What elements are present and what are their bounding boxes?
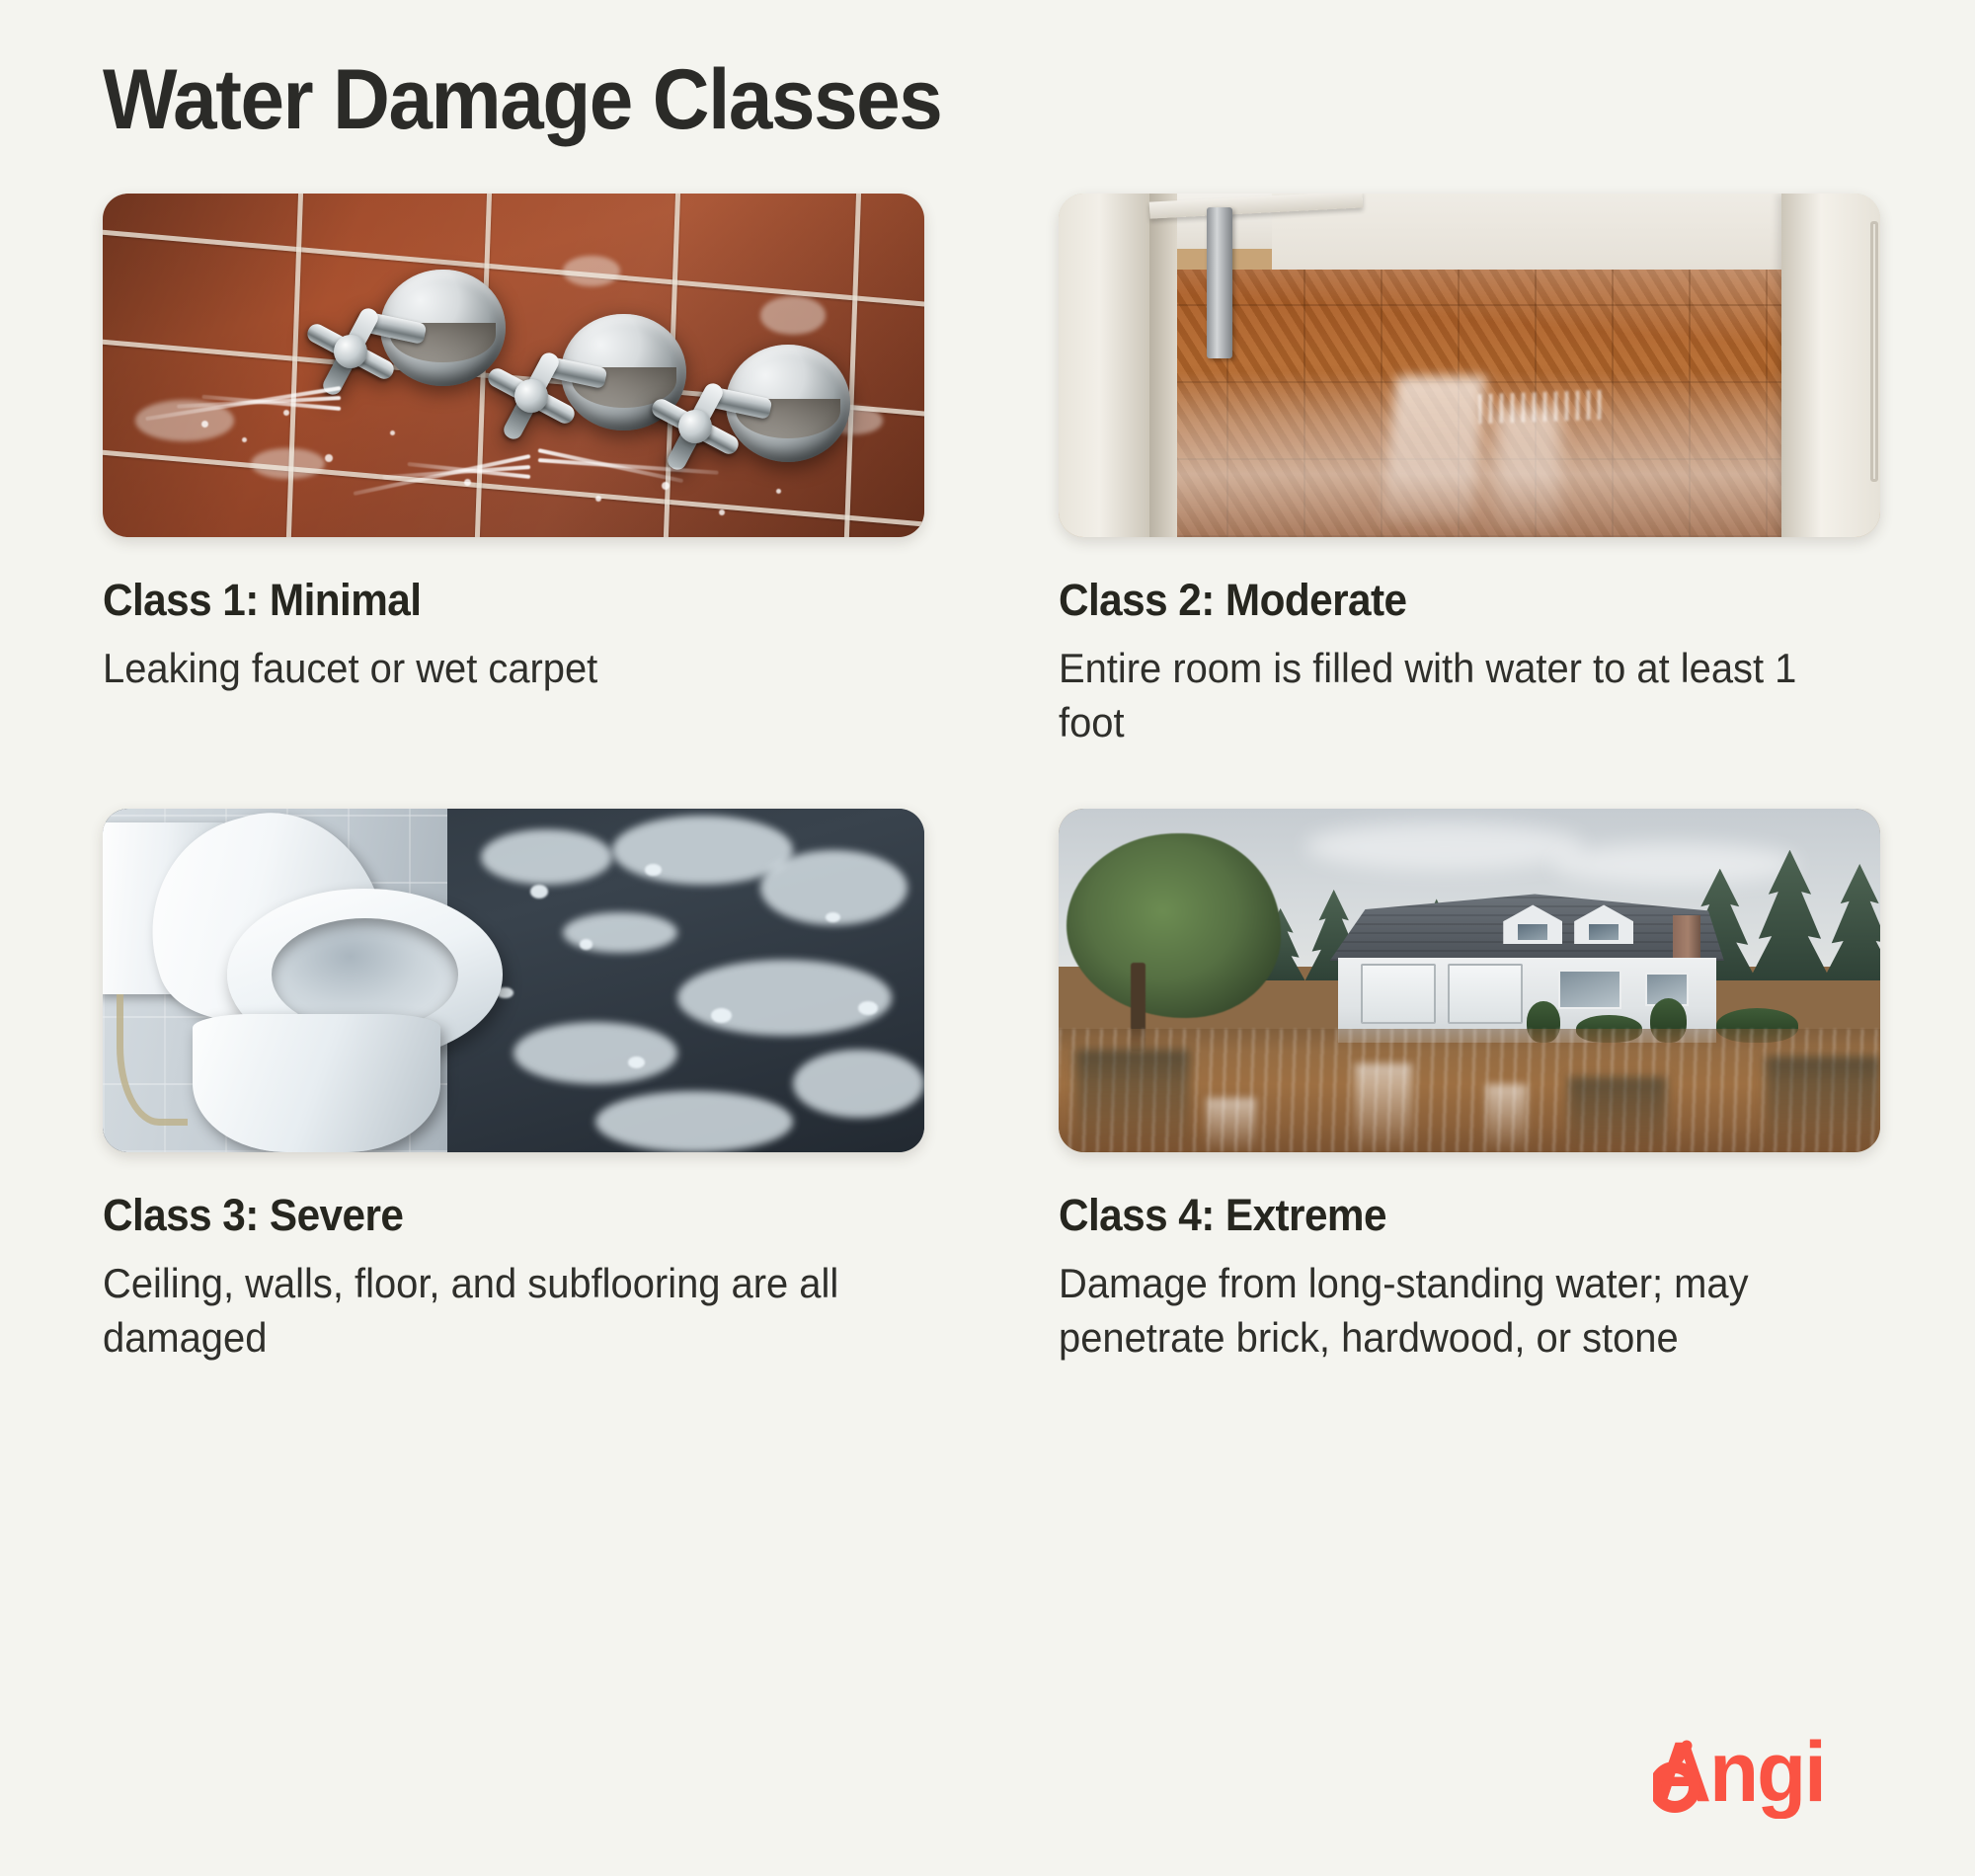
overflowing-toilet-photo bbox=[103, 809, 924, 1152]
class-4-title: Class 4: Extreme bbox=[1059, 1190, 1831, 1241]
class-card-1: Class 1: Minimal Leaking faucet or wet c… bbox=[103, 194, 924, 749]
flooded-hardwood-photo bbox=[1059, 194, 1880, 537]
class-3-description: Ceiling, walls, floor, and subflooring a… bbox=[103, 1257, 844, 1365]
water-spray bbox=[103, 194, 924, 537]
toilet bbox=[103, 822, 538, 1152]
class-2-description: Entire room is filled with water to at l… bbox=[1059, 642, 1800, 749]
class-1-image bbox=[103, 194, 924, 537]
page-title: Water Damage Classes bbox=[103, 57, 941, 142]
class-card-3: Class 3: Severe Ceiling, walls, floor, a… bbox=[103, 809, 924, 1365]
class-4-description: Damage from long-standing water; may pen… bbox=[1059, 1257, 1800, 1365]
class-card-4: Class 4: Extreme Damage from long-standi… bbox=[1059, 809, 1880, 1365]
angi-logo: Angi bbox=[1653, 1730, 1880, 1819]
class-3-image bbox=[103, 809, 924, 1152]
flooded-house-photo bbox=[1059, 809, 1880, 1152]
classes-grid: Class 1: Minimal Leaking faucet or wet c… bbox=[103, 194, 1880, 1365]
class-card-2: Class 2: Moderate Entire room is filled … bbox=[1059, 194, 1880, 749]
class-2-image bbox=[1059, 194, 1880, 537]
class-1-title: Class 1: Minimal bbox=[103, 575, 875, 626]
class-1-description: Leaking faucet or wet carpet bbox=[103, 642, 844, 696]
class-2-title: Class 2: Moderate bbox=[1059, 575, 1831, 626]
leaking-faucet-photo bbox=[103, 194, 924, 537]
class-4-image bbox=[1059, 809, 1880, 1152]
class-3-title: Class 3: Severe bbox=[103, 1190, 875, 1241]
infographic-page: Water Damage Classes bbox=[0, 0, 1975, 1876]
